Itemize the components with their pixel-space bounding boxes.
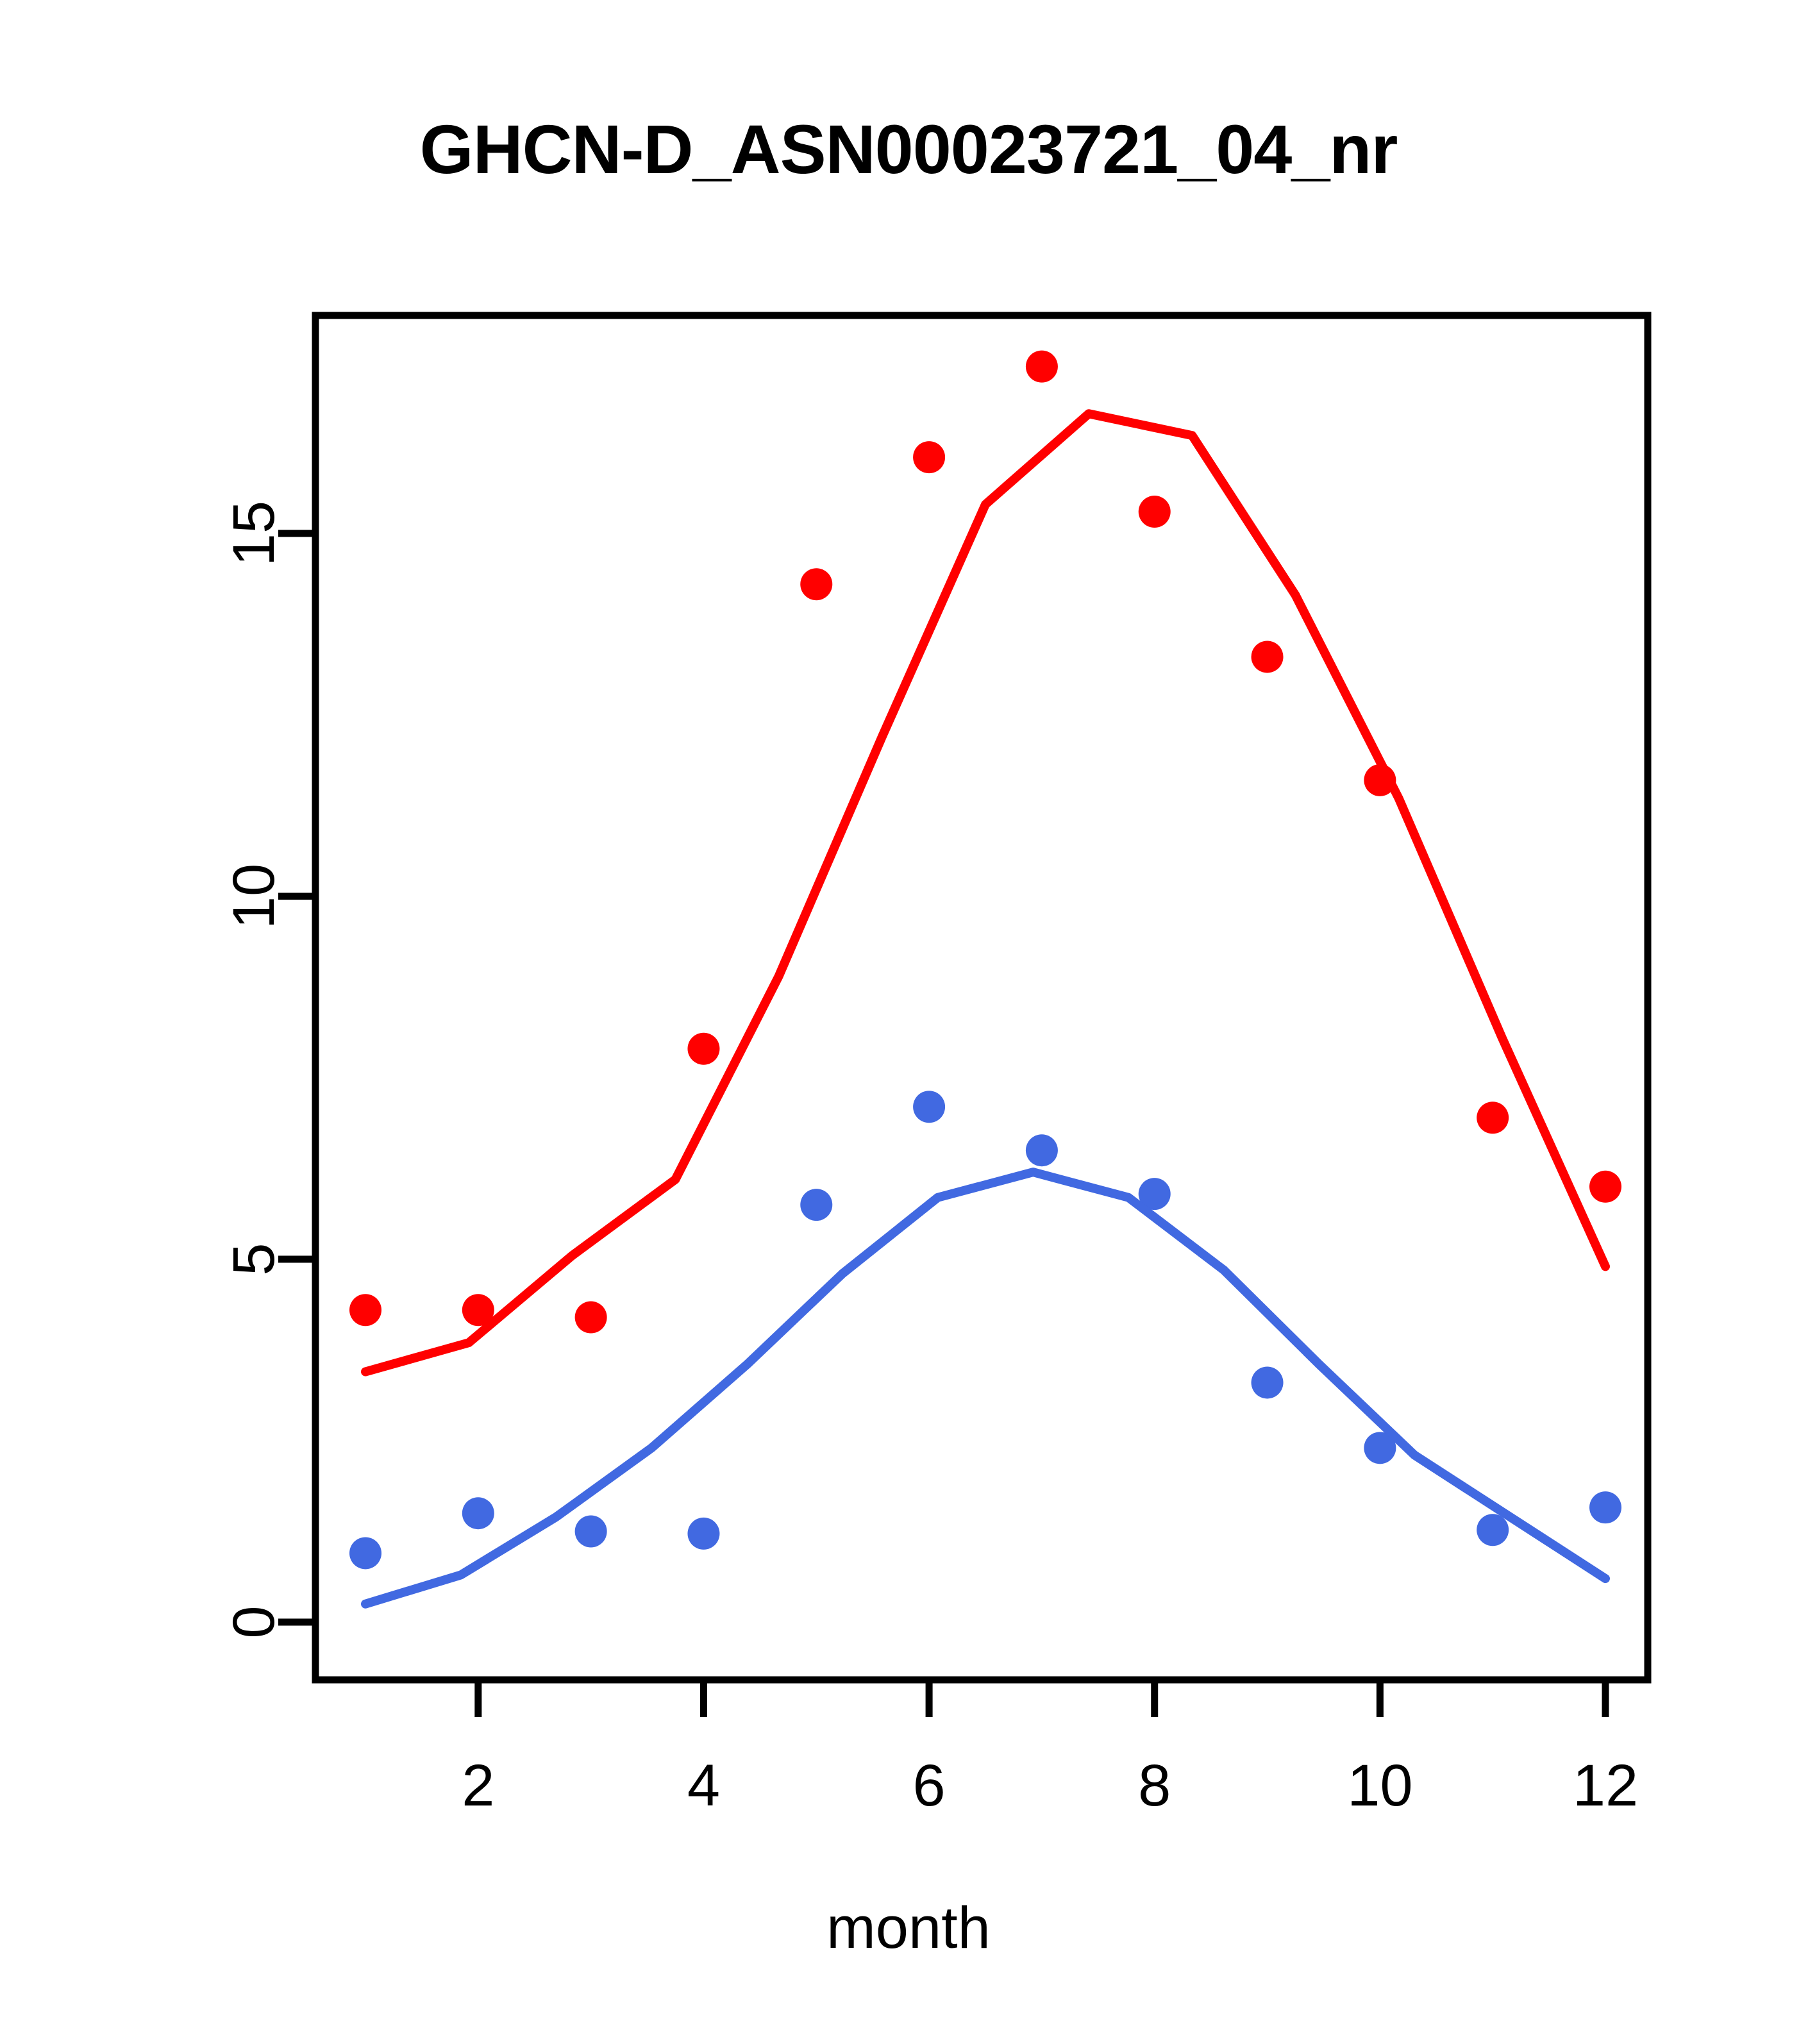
plot-area: 05101524681012 bbox=[0, 0, 1817, 2044]
data-point-blue-points bbox=[349, 1537, 381, 1569]
chart-figure: GHCN-D_ASN00023721_04_nr 05101524681012 … bbox=[0, 0, 1817, 2044]
x-axis-tick-label: 4 bbox=[687, 1753, 720, 1818]
data-point-red-points bbox=[1589, 1171, 1621, 1203]
y-axis-tick-label: 0 bbox=[221, 1605, 287, 1638]
data-point-red-points bbox=[349, 1294, 381, 1326]
series-line-blue-line bbox=[365, 1172, 1605, 1604]
data-point-blue-points bbox=[575, 1516, 607, 1548]
x-axis-tick-label: 8 bbox=[1138, 1753, 1171, 1818]
y-axis-tick-label: 15 bbox=[221, 501, 287, 566]
x-axis-tick-label: 2 bbox=[462, 1753, 494, 1818]
data-point-red-points bbox=[913, 441, 945, 473]
data-point-blue-points bbox=[1252, 1366, 1284, 1398]
series-line-red-line bbox=[365, 414, 1605, 1371]
data-point-blue-points bbox=[913, 1091, 945, 1123]
data-point-blue-points bbox=[462, 1497, 494, 1529]
data-point-blue-points bbox=[1477, 1514, 1509, 1546]
data-point-red-points bbox=[800, 568, 832, 600]
data-point-red-points bbox=[575, 1302, 607, 1334]
x-axis-tick-label: 6 bbox=[913, 1753, 946, 1818]
data-point-blue-points bbox=[687, 1518, 719, 1550]
y-axis-tick-label: 10 bbox=[221, 864, 287, 929]
data-point-blue-points bbox=[1026, 1134, 1058, 1166]
x-axis-label: month bbox=[0, 1895, 1817, 1962]
data-point-red-points bbox=[687, 1033, 719, 1065]
data-point-red-points bbox=[1477, 1102, 1509, 1134]
data-point-red-points bbox=[1026, 351, 1058, 383]
data-point-red-points bbox=[1252, 641, 1284, 673]
data-point-blue-points bbox=[800, 1189, 832, 1221]
y-axis-tick-label: 5 bbox=[221, 1243, 287, 1275]
x-axis-tick-label: 10 bbox=[1347, 1753, 1412, 1818]
x-axis-tick-label: 12 bbox=[1573, 1753, 1638, 1818]
data-point-red-points bbox=[1139, 496, 1171, 528]
data-point-blue-points bbox=[1589, 1491, 1621, 1523]
